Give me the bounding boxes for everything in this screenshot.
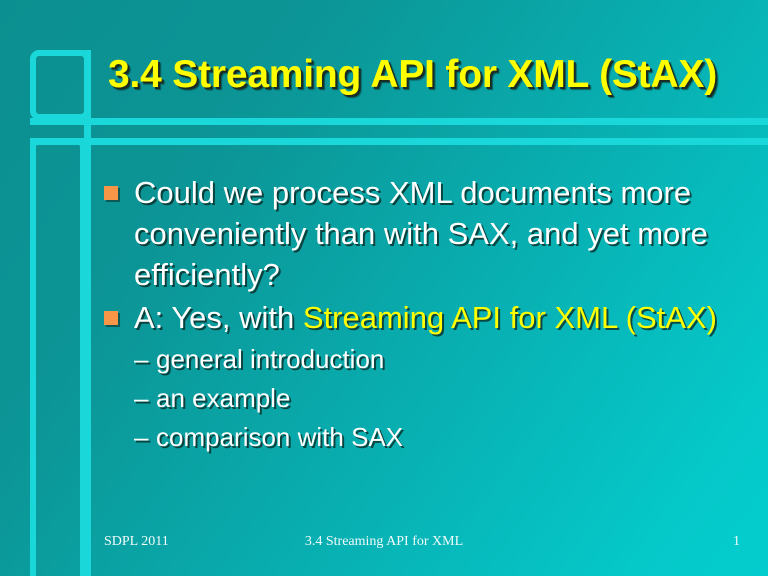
sub-bullet-label: comparison with SAX bbox=[156, 418, 744, 456]
slide-title: 3.4 Streaming API for XML (StAX) bbox=[108, 53, 748, 97]
dash-marker-icon: – bbox=[134, 340, 156, 378]
slide-body: Could we process XML documents more conv… bbox=[104, 172, 744, 457]
footer-page-number: 1 bbox=[733, 534, 740, 550]
dash-marker-icon: – bbox=[134, 379, 156, 417]
dash-marker-icon: – bbox=[134, 418, 156, 456]
decorative-horizontal-line-top bbox=[30, 118, 768, 125]
slide-footer: SDPL 2011 3.4 Streaming API for XML 1 bbox=[0, 534, 768, 560]
decorative-square-frame bbox=[30, 50, 90, 120]
decorative-vertical-line bbox=[84, 50, 91, 576]
sub-bullet-item: – an example bbox=[134, 379, 744, 417]
decorative-horizontal-line-bottom bbox=[30, 138, 768, 145]
orange-square-bullet-icon bbox=[104, 186, 118, 200]
orange-square-bullet-icon bbox=[104, 311, 118, 325]
bullet-item: Could we process XML documents more conv… bbox=[104, 172, 744, 295]
bullet-text-segment: Could we process XML documents more conv… bbox=[134, 175, 708, 292]
bullet-item-label: Could we process XML documents more conv… bbox=[134, 172, 744, 295]
decorative-box-frame bbox=[30, 138, 86, 576]
sub-bullet-item: – general introduction bbox=[134, 340, 744, 378]
footer-title-label: 3.4 Streaming API for XML bbox=[0, 534, 768, 550]
bullet-text-highlight: Streaming API for XML (StAX) bbox=[303, 300, 717, 335]
bullet-text-segment: A: Yes, with bbox=[134, 300, 303, 335]
presentation-slide: 3.4 Streaming API for XML (StAX) Could w… bbox=[0, 0, 768, 576]
sub-bullet-item: – comparison with SAX bbox=[134, 418, 744, 456]
sub-bullet-label: an example bbox=[156, 379, 744, 417]
bullet-item-label: A: Yes, with Streaming API for XML (StAX… bbox=[134, 297, 744, 338]
bullet-item: A: Yes, with Streaming API for XML (StAX… bbox=[104, 297, 744, 338]
sub-bullet-label: general introduction bbox=[156, 340, 744, 378]
